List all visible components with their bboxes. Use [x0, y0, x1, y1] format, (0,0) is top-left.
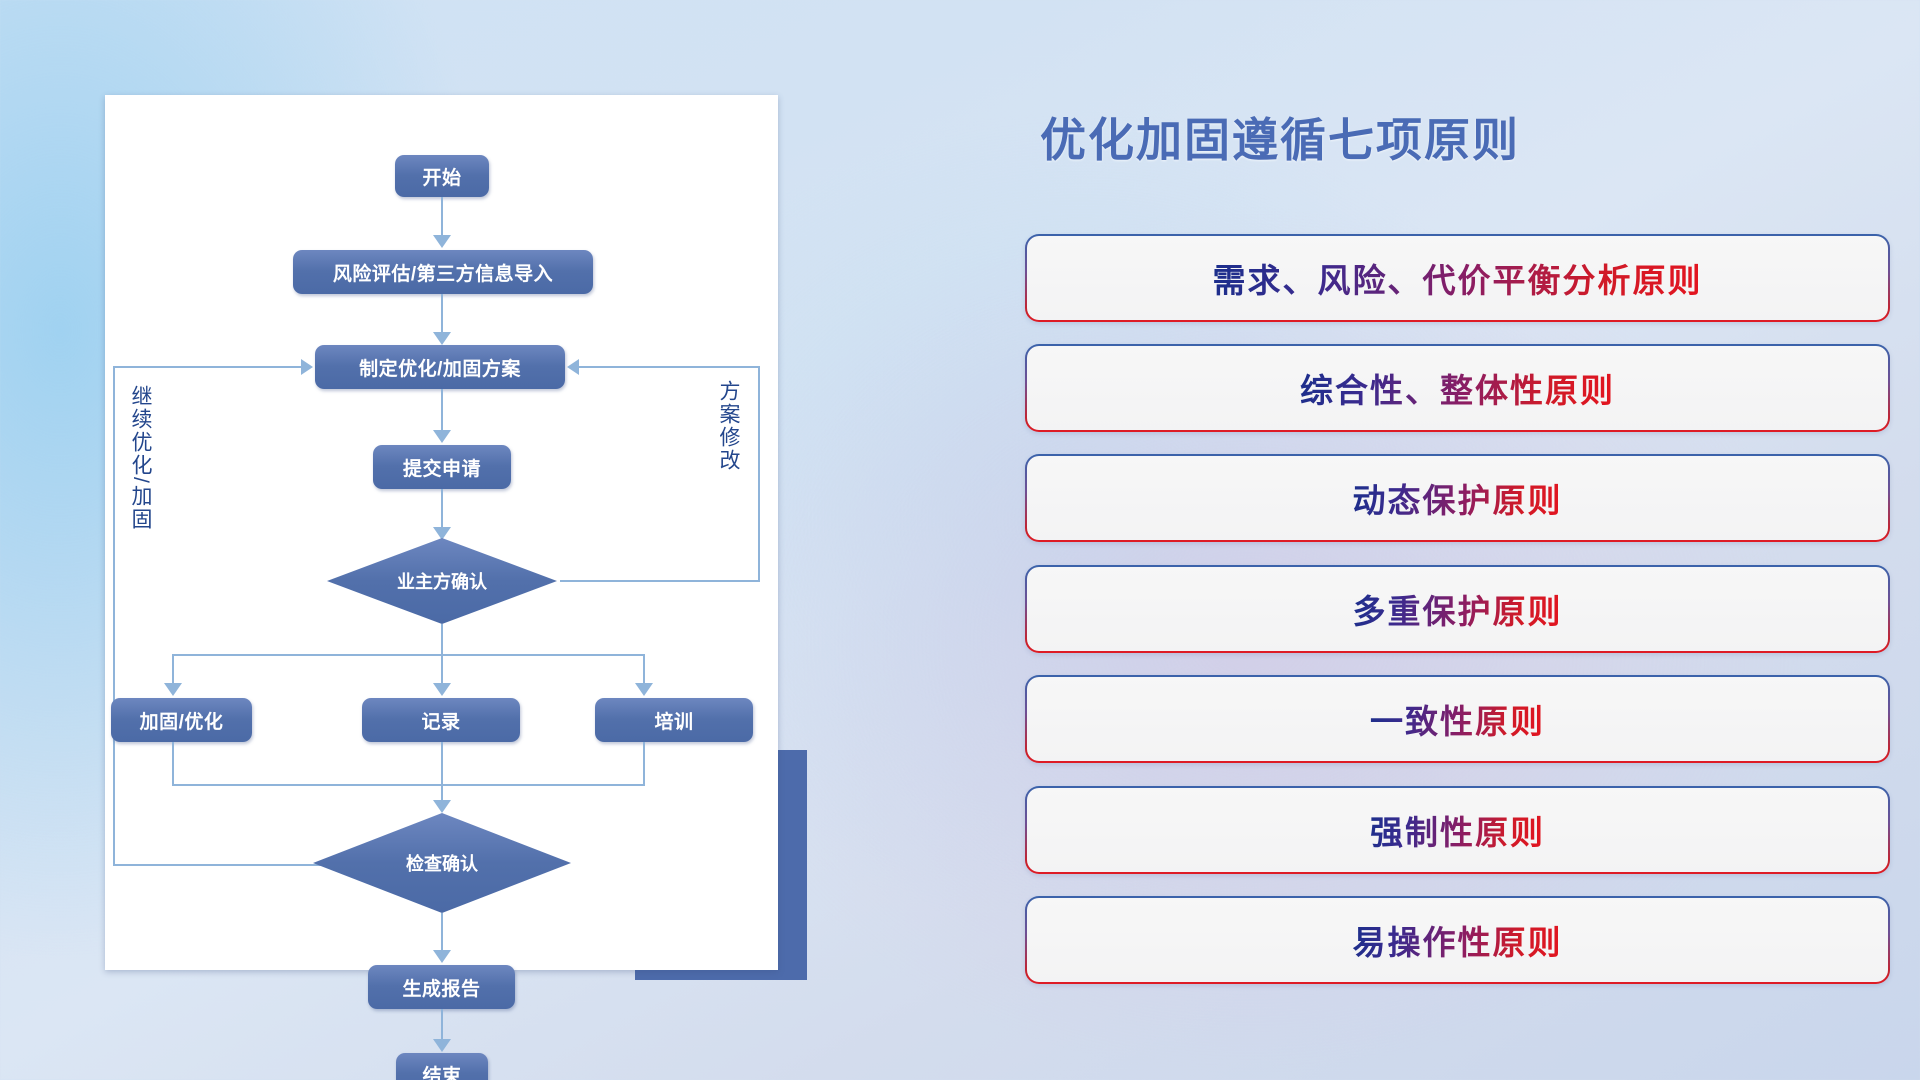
arrow-risk-plan — [433, 332, 451, 345]
principle-card-1-label: 需求、风险、代价平衡分析原则 — [1213, 254, 1703, 302]
flowchart-stage: 开始 风险评估/第三方信息导入 制定优化/加固方案 继续优化/加固 — [0, 0, 900, 1080]
flow-node-owner-confirm-label: 业主方确认 — [397, 568, 487, 594]
flow-node-submit[interactable]: 提交申请 — [373, 445, 511, 489]
principle-card-7[interactable]: 易操作性原则 — [1025, 896, 1890, 984]
connector-loop-left-vertical — [113, 366, 115, 866]
principle-card-5[interactable]: 一致性原则 — [1025, 675, 1890, 763]
arrow-branch-mid — [433, 683, 451, 696]
flow-node-generate-report-label: 生成报告 — [402, 974, 480, 1001]
connector-loop-left-top — [113, 366, 303, 368]
flow-node-end-label: 结束 — [422, 1061, 461, 1080]
flow-node-risk-assessment[interactable]: 风险评估/第三方信息导入 — [293, 250, 593, 294]
connector-merge-right — [643, 742, 645, 786]
principle-card-7-label: 易操作性原则 — [1353, 916, 1563, 964]
flow-node-record-label: 记录 — [421, 707, 460, 734]
principles-stage: 优化加固遵循七项原则 需求、风险、代价平衡分析原则 综合性、整体性原则 动态保护… — [900, 0, 1920, 1080]
flow-node-reinforce[interactable]: 加固/优化 — [111, 698, 252, 742]
principle-card-2[interactable]: 综合性、整体性原则 — [1025, 344, 1890, 432]
flow-node-risk-assessment-label: 风险评估/第三方信息导入 — [333, 259, 553, 286]
flow-node-training-label: 培训 — [654, 707, 693, 734]
arrow-plan-submit — [433, 430, 451, 443]
connector-merge-mid — [441, 742, 443, 807]
flow-node-start-label: 开始 — [422, 163, 461, 190]
principle-card-1[interactable]: 需求、风险、代价平衡分析原则 — [1025, 234, 1890, 322]
principle-card-4-label: 多重保护原则 — [1353, 585, 1563, 633]
connector-merge-left — [172, 742, 174, 786]
flowchart-panel: 开始 风险评估/第三方信息导入 制定优化/加固方案 继续优化/加固 — [105, 95, 778, 970]
principle-card-3[interactable]: 动态保护原则 — [1025, 454, 1890, 542]
arrow-check-report — [433, 950, 451, 963]
connector-branch-bus — [172, 654, 645, 656]
flow-node-owner-confirm[interactable]: 业主方确认 — [327, 538, 557, 624]
flow-node-training[interactable]: 培训 — [595, 698, 753, 742]
flow-node-plan[interactable]: 制定优化/加固方案 — [315, 345, 565, 389]
connector-loop-right-vertical — [758, 366, 760, 582]
arrow-start-risk — [433, 235, 451, 248]
principle-card-2-label: 综合性、整体性原则 — [1300, 364, 1615, 412]
arrow-report-end — [433, 1039, 451, 1052]
connector-owner-down — [441, 624, 443, 656]
principle-card-6-label: 强制性原则 — [1370, 806, 1545, 854]
page-title: 优化加固遵循七项原则 — [1040, 104, 1520, 170]
flow-node-reinforce-label: 加固/优化 — [140, 707, 224, 734]
connector-merge-bus — [172, 784, 645, 786]
flow-node-check-confirm-label: 检查确认 — [406, 850, 478, 876]
arrow-branch-left — [164, 683, 182, 696]
flow-node-record[interactable]: 记录 — [362, 698, 520, 742]
annotation-continue-optimize-label: 继续优化/加固 — [129, 385, 152, 531]
flow-node-check-confirm[interactable]: 检查确认 — [313, 813, 571, 913]
flow-node-start[interactable]: 开始 — [395, 155, 489, 197]
annotation-continue-optimize: 继续优化/加固 — [129, 385, 151, 531]
annotation-plan-revision-label: 方案修改 — [717, 380, 740, 472]
flow-node-generate-report[interactable]: 生成报告 — [368, 965, 515, 1009]
principle-card-4[interactable]: 多重保护原则 — [1025, 565, 1890, 653]
arrow-branch-right — [635, 683, 653, 696]
principle-card-3-label: 动态保护原则 — [1353, 474, 1563, 522]
annotation-plan-revision: 方案修改 — [717, 380, 739, 472]
connector-loop-right-top — [579, 366, 760, 368]
connector-loop-right-bottom — [560, 580, 760, 582]
flow-node-submit-label: 提交申请 — [403, 454, 481, 481]
flow-node-plan-label: 制定优化/加固方案 — [359, 354, 521, 381]
flow-node-end[interactable]: 结束 — [396, 1053, 488, 1080]
principle-card-5-label: 一致性原则 — [1370, 695, 1545, 743]
arrow-loop-right-into-plan — [567, 359, 579, 375]
arrow-merge-check — [433, 800, 451, 813]
principle-card-6[interactable]: 强制性原则 — [1025, 786, 1890, 874]
